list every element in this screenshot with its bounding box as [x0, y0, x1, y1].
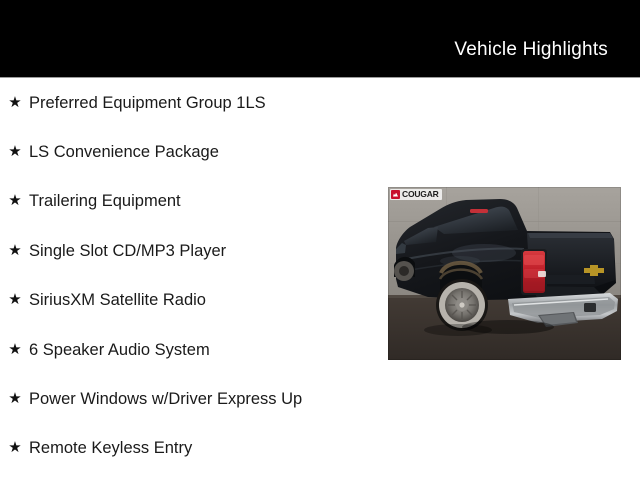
list-item-label: Remote Keyless Entry: [29, 438, 192, 458]
vehicle-photo-illustration: [388, 187, 621, 360]
list-item-label: SiriusXM Satellite Radio: [29, 290, 206, 310]
photo-watermark: COUGAR: [390, 189, 442, 200]
list-item-label: 6 Speaker Audio System: [29, 340, 210, 360]
star-icon: ★: [8, 391, 22, 407]
list-item: ★ Trailering Equipment: [0, 177, 380, 226]
vehicle-highlights-list: ★ Preferred Equipment Group 1LS ★ LS Con…: [0, 78, 380, 473]
star-icon: ★: [8, 243, 22, 259]
list-item: ★ Single Slot CD/MP3 Player: [0, 226, 380, 275]
star-icon: ★: [8, 95, 22, 111]
list-item-label: Power Windows w/Driver Express Up: [29, 389, 302, 409]
watermark-label: COUGAR: [402, 190, 439, 199]
list-item: ★ Remote Keyless Entry: [0, 424, 380, 473]
list-item-label: Trailering Equipment: [29, 191, 181, 211]
page-header: Vehicle Highlights: [0, 0, 640, 77]
vehicle-photo: COUGAR: [388, 187, 621, 360]
star-icon: ★: [8, 144, 22, 160]
star-icon: ★: [8, 292, 22, 308]
cougar-logo-icon: [391, 190, 400, 199]
list-item-label: LS Convenience Package: [29, 142, 219, 162]
star-icon: ★: [8, 193, 22, 209]
list-item-label: Preferred Equipment Group 1LS: [29, 93, 266, 113]
list-item: ★ Preferred Equipment Group 1LS: [0, 78, 380, 127]
star-icon: ★: [8, 342, 22, 358]
list-item: ★ Power Windows w/Driver Express Up: [0, 374, 380, 423]
list-item-label: Single Slot CD/MP3 Player: [29, 241, 226, 261]
star-icon: ★: [8, 440, 22, 456]
list-item: ★ LS Convenience Package: [0, 127, 380, 176]
page-title: Vehicle Highlights: [454, 39, 608, 61]
list-item: ★ 6 Speaker Audio System: [0, 325, 380, 374]
list-item: ★ SiriusXM Satellite Radio: [0, 276, 380, 325]
